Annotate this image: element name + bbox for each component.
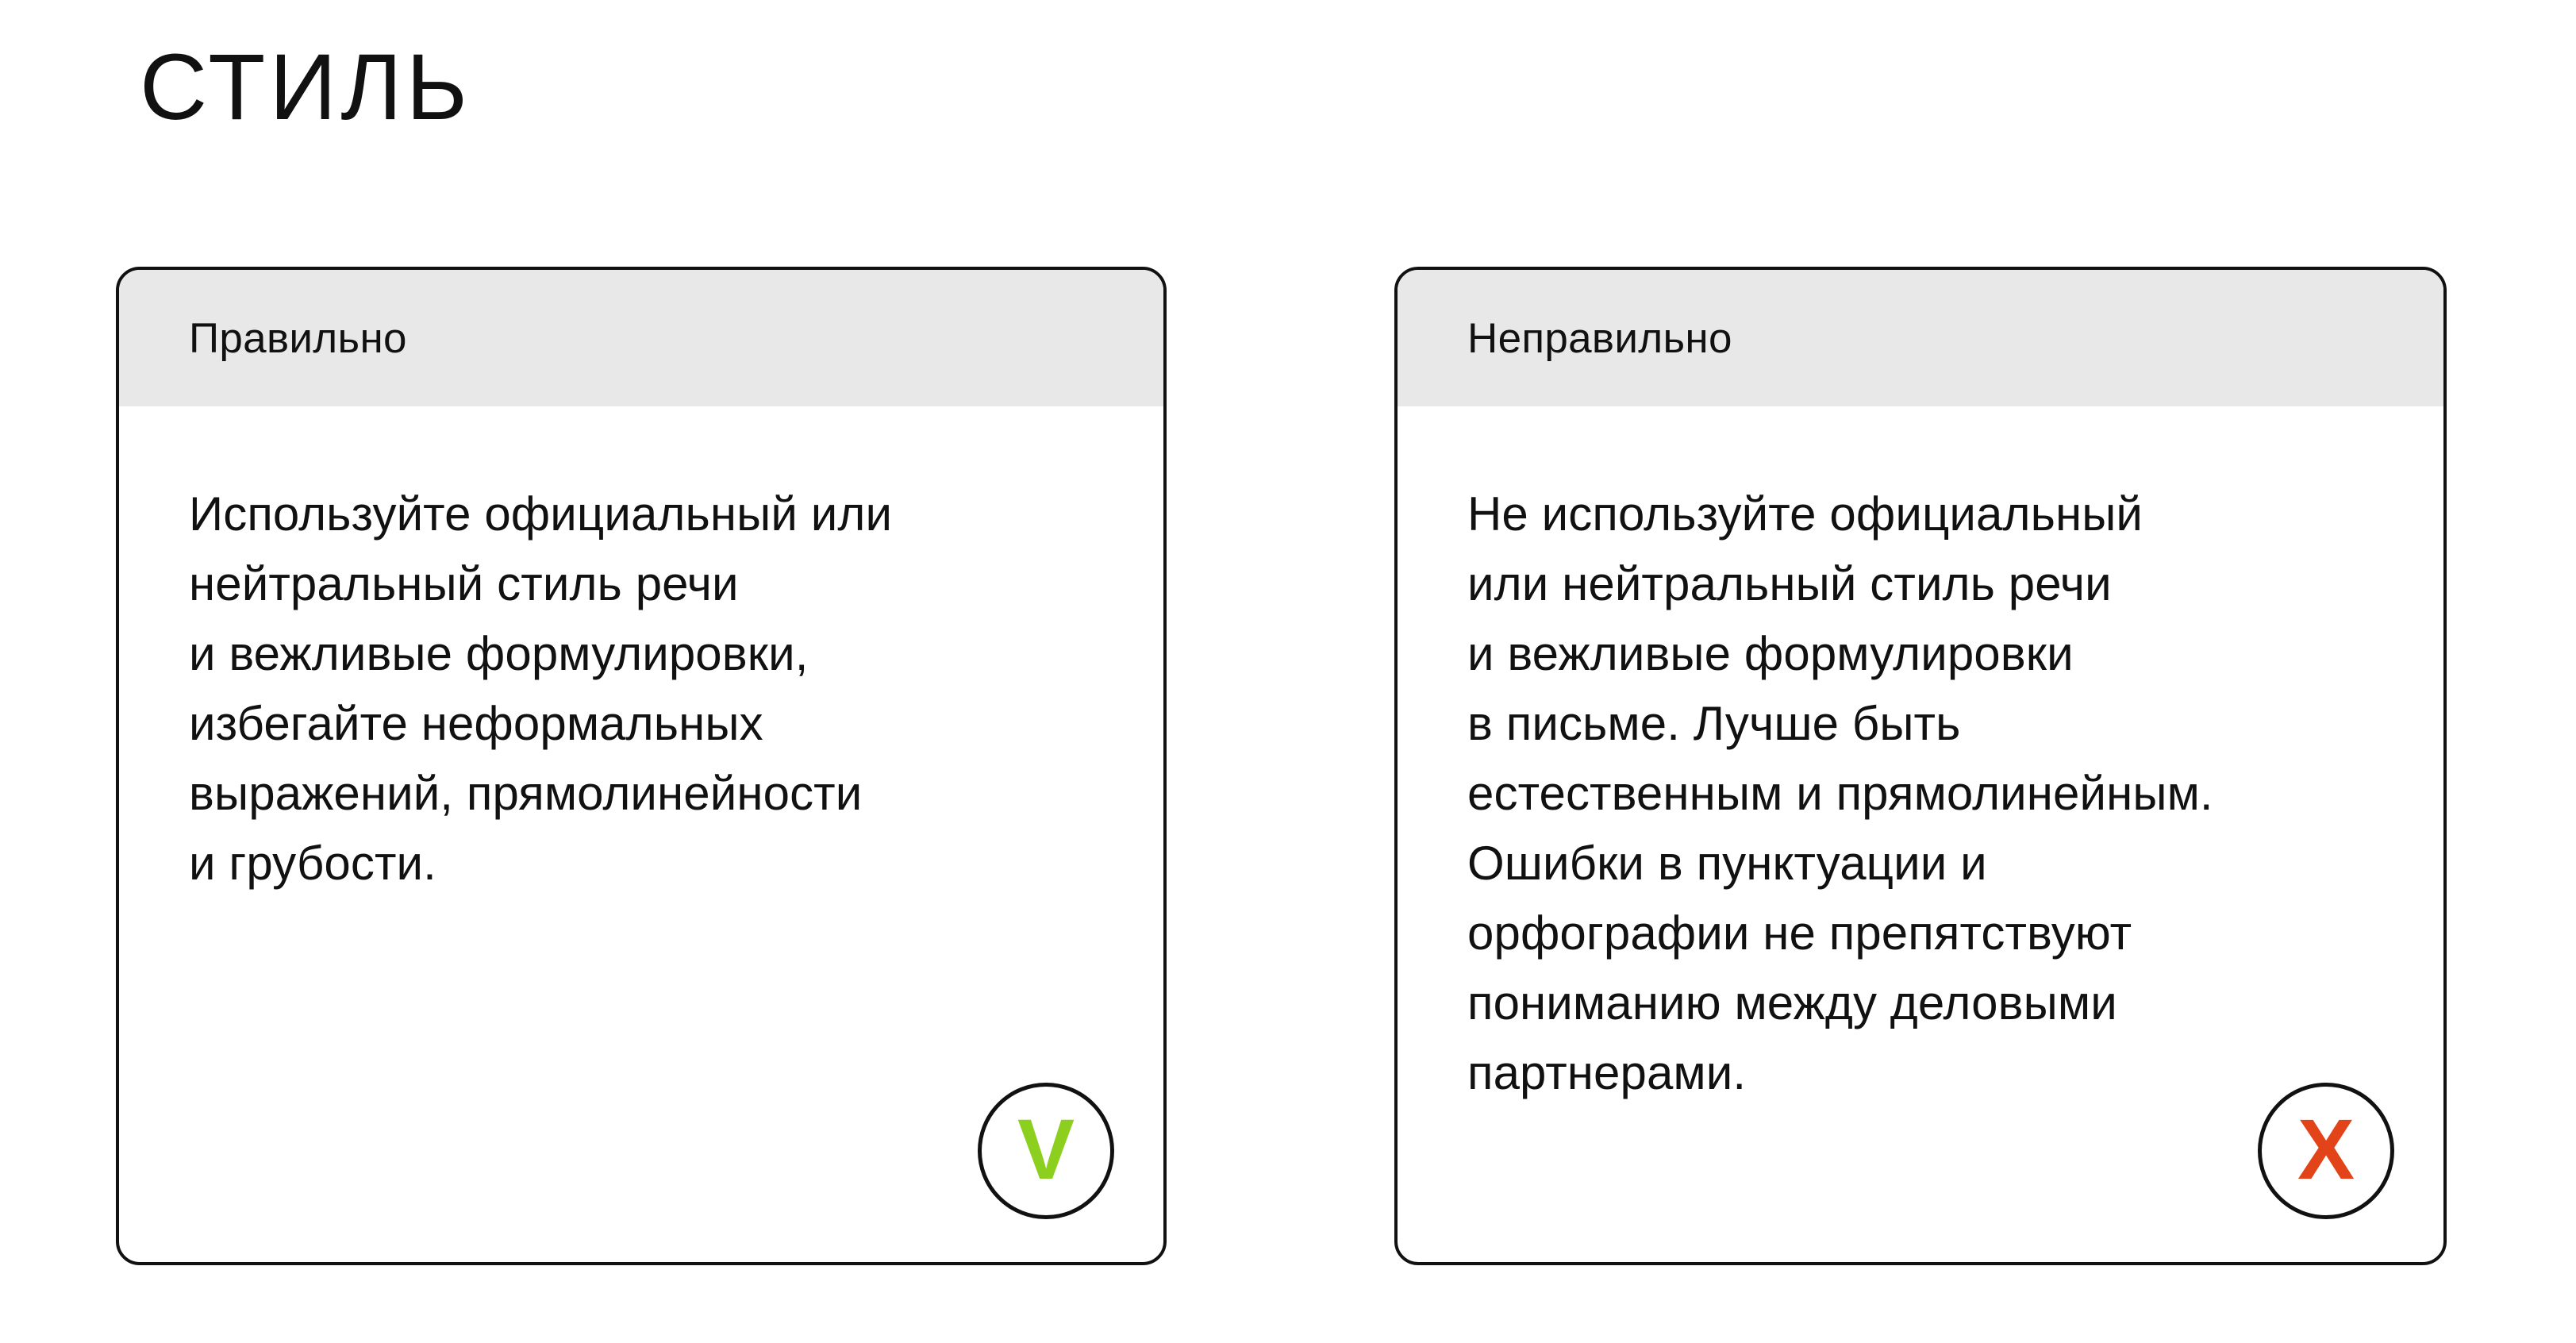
- text-line: естественным и прямолинейным.: [1467, 759, 2380, 829]
- text-line: партнерами.: [1467, 1038, 2380, 1108]
- card-correct-header: Правильно: [119, 270, 1163, 406]
- text-line: избегайте неформальных: [189, 689, 1100, 759]
- card-incorrect-header-label: Неправильно: [1467, 314, 1732, 363]
- card-correct: Правильно Используйте официальный или не…: [116, 267, 1167, 1265]
- card-correct-text: Используйте официальный или нейтральный …: [189, 479, 1100, 899]
- text-line: Не используйте официальный: [1467, 479, 2380, 549]
- page-title: СТИЛЬ: [140, 32, 471, 144]
- card-incorrect: Неправильно Не используйте официальный и…: [1394, 267, 2447, 1265]
- card-incorrect-body: Не используйте официальный или нейтральн…: [1398, 406, 2443, 1262]
- card-incorrect-header: Неправильно: [1398, 270, 2443, 406]
- text-line: или нейтральный стиль речи: [1467, 549, 2380, 619]
- text-line: и грубости.: [189, 829, 1100, 899]
- text-line: пониманию между деловыми: [1467, 968, 2380, 1038]
- slide-canvas: СТИЛЬ Правильно Используйте официальный …: [0, 0, 2576, 1343]
- text-line: Ошибки в пунктуации и: [1467, 829, 2380, 899]
- card-correct-header-label: Правильно: [189, 314, 407, 363]
- card-incorrect-text: Не используйте официальный или нейтральн…: [1467, 479, 2380, 1108]
- text-line: выражений, прямолинейности: [189, 759, 1100, 829]
- check-mark-icon: V: [978, 1083, 1114, 1219]
- text-line: орфографии не препятствуют: [1467, 899, 2380, 968]
- text-line: и вежливые формулировки,: [189, 619, 1100, 689]
- text-line: Используйте официальный или: [189, 479, 1100, 549]
- cross-mark-glyph: X: [2297, 1106, 2355, 1192]
- card-correct-body: Используйте официальный или нейтральный …: [119, 406, 1163, 1262]
- check-mark-glyph: V: [1017, 1106, 1075, 1192]
- cross-mark-icon: X: [2258, 1083, 2394, 1219]
- text-line: нейтральный стиль речи: [189, 549, 1100, 619]
- text-line: в письме. Лучше быть: [1467, 689, 2380, 759]
- text-line: и вежливые формулировки: [1467, 619, 2380, 689]
